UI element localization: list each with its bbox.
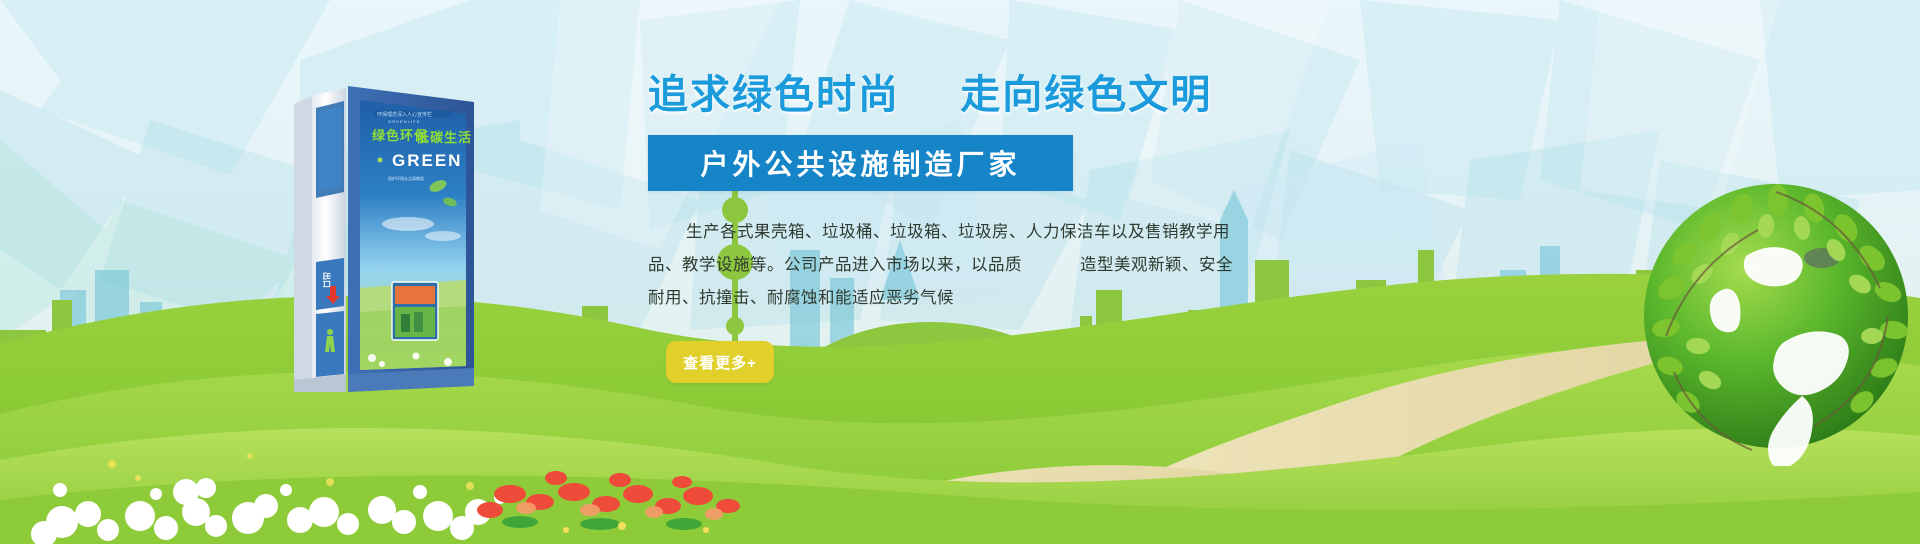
outdoor-kiosk-lightbox: 环保理念深入人心宣传栏 G R E E N L I F E 绿色环保 低碳生活 … xyxy=(288,74,478,392)
promotional-banner: 环保理念深入人心宣传栏 G R E E N L I F E 绿色环保 低碳生活 … xyxy=(0,0,1920,544)
view-more-button[interactable]: 查看更多+ xyxy=(666,341,774,383)
headline-part-1: 追求绿色时尚 xyxy=(648,73,900,117)
banner-headline: 追求绿色时尚 走向绿色文明 xyxy=(648,72,1468,118)
tagline-bar: 户外公共设施制造厂家 xyxy=(648,135,1073,191)
svg-text:保护环境从点滴做起: 保护环境从点滴做起 xyxy=(388,175,424,181)
svg-text:GREEN: GREEN xyxy=(392,151,462,170)
svg-text:环保理念深入人心宣传栏: 环保理念深入人心宣传栏 xyxy=(377,111,432,118)
paragraph-line-1: 生产各式果壳箱、垃圾桶、垃圾箱、垃圾房、人力保洁车以及售销教学用 xyxy=(648,216,1438,249)
paragraph-line-3: 耐用、抗撞击、耐腐蚀和能适应恶劣气候 xyxy=(648,282,1438,315)
paragraph-line-2b: 造型美观新颖、安全 xyxy=(1080,256,1233,274)
paragraph-line-2: 品、教学设施等。公司产品进入市场以来，以品质造型美观新颖、安全 xyxy=(648,249,1438,282)
description-paragraph: 生产各式果壳箱、垃圾桶、垃圾箱、垃圾房、人力保洁车以及售销教学用 品、教学设施等… xyxy=(648,216,1438,315)
tagline-text: 户外公共设施制造厂家 xyxy=(700,143,1020,183)
banner-copy: 追求绿色时尚 走向绿色文明 户外公共设施制造厂家 生产各式果壳箱、垃圾桶、垃圾箱… xyxy=(648,72,1468,383)
headline-part-2: 走向绿色文明 xyxy=(960,73,1212,117)
svg-text:出口: 出口 xyxy=(322,272,332,288)
svg-text:低碳生活: 低碳生活 xyxy=(415,130,472,145)
view-more-label: 查看更多+ xyxy=(683,352,757,373)
green-earth-globe xyxy=(1626,166,1920,466)
svg-text:G R E E N L I F E: G R E E N L I F E xyxy=(388,119,420,124)
paragraph-line-2a: 品、教学设施等。公司产品进入市场以来，以品质 xyxy=(648,256,1022,274)
red-flowers-cluster xyxy=(470,416,770,536)
